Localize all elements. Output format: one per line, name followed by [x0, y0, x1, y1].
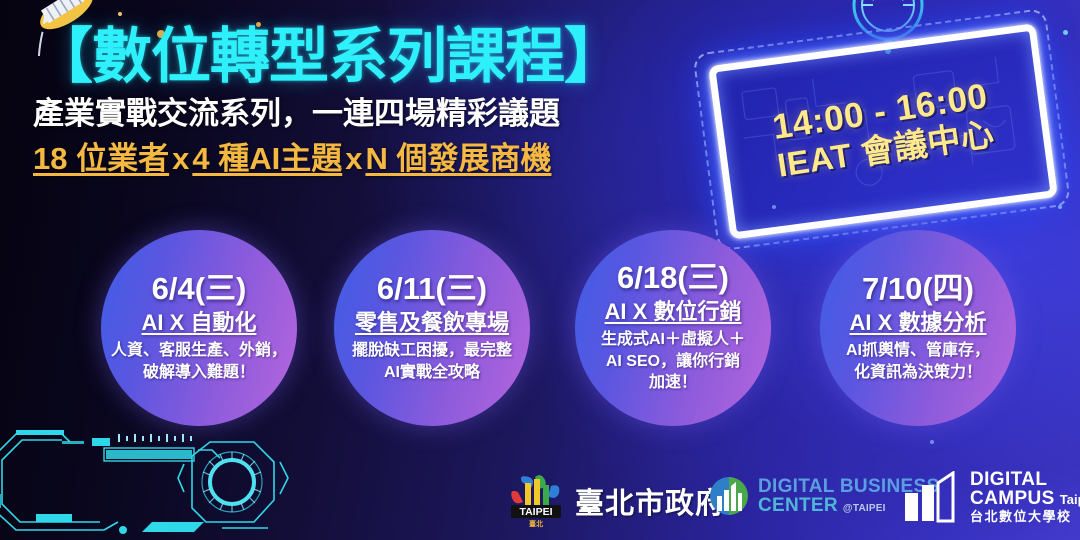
- campus-line-1: DIGITAL: [970, 470, 1080, 489]
- session-topic: AI X 自動化: [142, 310, 257, 335]
- dbc-circle-icon: [707, 474, 751, 518]
- session-desc-line: AI抓輿情、管庫存，: [846, 340, 990, 362]
- hud-decoration: [0, 404, 322, 540]
- session-date: 6/18(三): [617, 262, 729, 295]
- dbc-suffix: @TAIPEI: [843, 504, 886, 514]
- event-info-box: 14:00 - 16:00 IEAT 會議中心: [708, 23, 1058, 240]
- session-topic: AI X 數位行銷: [605, 299, 742, 324]
- session-description: AI抓輿情、管庫存， 化資訊為決策力！: [846, 340, 990, 383]
- campus-line-2: CAMPUS: [970, 489, 1055, 508]
- taipei-badge-subtext: 臺北: [529, 519, 543, 528]
- highlight-line: 18 位業者x4 種AI主題xN 個發展商機: [33, 140, 723, 177]
- taipei-badge-text: TAIPEI: [519, 506, 552, 518]
- session-desc-line: 加速！: [601, 372, 745, 394]
- star-dot: [930, 440, 934, 444]
- digital-campus-taipei-logo: DIGITAL CAMPUS Taipei 台北數位大學校: [903, 470, 1080, 523]
- highlight-part-1: 18 位業者: [33, 141, 169, 176]
- session-date: 7/10(四): [862, 273, 974, 306]
- highlight-part-3: N 個發展商機: [365, 141, 551, 176]
- page-title: 【數位轉型系列課程】: [33, 26, 723, 87]
- session-desc-line: 生成式AI＋虛擬人＋: [601, 329, 745, 351]
- campus-line-3: 台北數位大學校: [970, 510, 1080, 523]
- session-desc-line: AI實戰全攻略: [352, 362, 512, 384]
- taipei-logo-name: 臺北市政府: [575, 480, 725, 522]
- session-date: 6/4(三): [152, 273, 247, 306]
- taipei-flower-icon: TAIPEI 臺北: [505, 474, 567, 528]
- session-date: 6/11(三): [377, 273, 487, 306]
- highlight-sep-1: x: [169, 141, 192, 176]
- page-subtitle: 產業實戰交流系列，一連四場精彩議題: [33, 96, 723, 132]
- headline-block: 【數位轉型系列課程】 產業實戰交流系列，一連四場精彩議題 18 位業者x4 種A…: [33, 26, 723, 177]
- session-bubble[interactable]: 7/10(四) AI X 數據分析 AI抓輿情、管庫存， 化資訊為決策力！: [820, 230, 1016, 426]
- session-topic: AI X 數據分析: [850, 310, 987, 335]
- session-desc-line: 化資訊為決策力！: [846, 362, 990, 384]
- session-bubble[interactable]: 6/18(三) AI X 數位行銷 生成式AI＋虛擬人＋ AI SEO，讓你行銷…: [575, 230, 771, 426]
- session-bubble[interactable]: 6/4(三) AI X 自動化 人資、客服生產、外銷， 破解導入難題！: [101, 230, 297, 426]
- session-description: 生成式AI＋虛擬人＋ AI SEO，讓你行銷 加速！: [601, 329, 745, 394]
- session-desc-line: AI SEO，讓你行銷: [601, 351, 745, 373]
- session-description: 擺脫缺工困擾，最完整 AI實戰全攻略: [352, 340, 512, 383]
- campus-buildings-icon: [903, 471, 961, 523]
- campus-suffix: Taipei: [1060, 493, 1080, 506]
- promotional-banner: 14:00 - 16:00 IEAT 會議中心 【數位轉型系列課程】 產業實戰交…: [0, 0, 1080, 540]
- session-description: 人資、客服生產、外銷， 破解導入難題！: [111, 340, 287, 383]
- highlight-part-2: 4 種AI主題: [192, 141, 342, 176]
- star-dot: [1063, 30, 1068, 35]
- highlight-sep-2: x: [342, 141, 365, 176]
- dbc-line-2: CENTER: [758, 496, 838, 515]
- session-desc-line: 人資、客服生產、外銷，: [111, 340, 287, 362]
- session-desc-line: 擺脫缺工困擾，最完整: [352, 340, 512, 362]
- taipei-city-government-logo: TAIPEI 臺北 臺北市政府: [505, 474, 725, 528]
- session-desc-line: 破解導入難題！: [111, 362, 287, 384]
- session-topic: 零售及餐飲專場: [355, 310, 509, 335]
- session-list: 6/4(三) AI X 自動化 人資、客服生產、外銷， 破解導入難題！ 6/11…: [0, 230, 1080, 430]
- session-bubble[interactable]: 6/11(三) 零售及餐飲專場 擺脫缺工困擾，最完整 AI實戰全攻略: [334, 230, 530, 426]
- footer-logos: TAIPEI 臺北 臺北市政府 DIGITAL BUSINESS CENTER …: [505, 468, 1080, 534]
